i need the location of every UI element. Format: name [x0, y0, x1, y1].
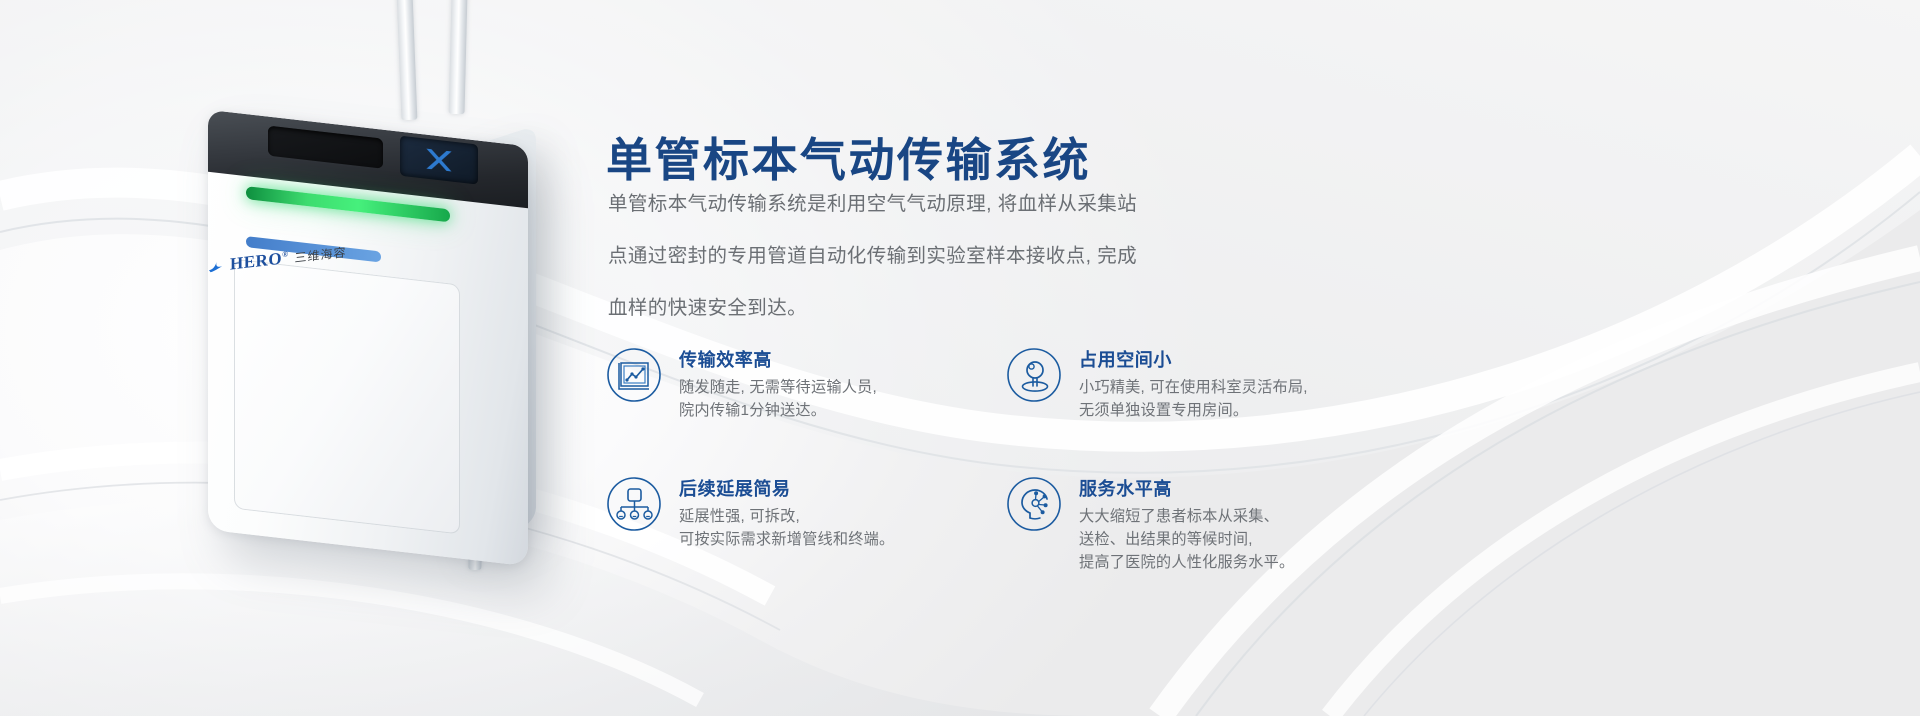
brand-chinese-text: 三维海容: [295, 243, 347, 266]
product-description: 单管标本气动传输系统是利用空气气动原理, 将血样从采集站 点通过密封的专用管道自…: [608, 178, 1268, 334]
device-sample-slot: [268, 126, 383, 169]
description-line-2: 点通过密封的专用管道自动化传输到实验室样本接收点, 完成: [608, 230, 1268, 282]
feature-heading: 传输效率高: [679, 346, 877, 372]
device-front-panel: [234, 259, 460, 535]
feature-heading: 后续延展简易: [679, 475, 894, 501]
description-line-1: 单管标本气动传输系统是利用空气气动原理, 将血样从采集站: [608, 178, 1268, 230]
product-image: HERO® 三维海容: [150, 0, 620, 716]
pneumatic-tube-left: [397, 0, 418, 120]
feature-body-line: 院内传输1分钟送达。: [679, 399, 877, 422]
feature-text: 服务水平高 大大缩短了患者标本从采集、 送检、出结果的等候时间, 提高了医院的人…: [1079, 474, 1294, 574]
description-line-3: 血样的快速安全到达。: [608, 282, 1268, 334]
line-chart-icon: [606, 347, 662, 403]
product-banner: HERO® 三维海容 单管标本气动传输系统 单管标本气动传输系统是利用空气气动原…: [0, 0, 1920, 716]
feature-text: 后续延展简易 延展性强, 可拆改, 可按实际需求新增管线和终端。: [679, 474, 894, 551]
feature-heading: 服务水平高: [1079, 475, 1294, 501]
pneumatic-tube-right: [449, 0, 468, 114]
hero-swoosh-icon: [208, 258, 224, 274]
feature-body-line: 提高了医院的人性化服务水平。: [1079, 551, 1294, 574]
feature-item-small-footprint: 占用空间小 小巧精美, 可在使用科室灵活布局, 无须单独设置专用房间。: [1006, 345, 1286, 422]
feature-body-line: 可按实际需求新增管线和终端。: [679, 528, 894, 551]
feature-body-line: 送检、出结果的等候时间,: [1079, 528, 1294, 551]
network-tree-icon: [606, 476, 662, 532]
feature-heading: 占用空间小: [1079, 346, 1308, 372]
head-circuit-icon: [1006, 476, 1062, 532]
feature-text: 传输效率高 随发随走, 无需等待运输人员, 院内传输1分钟送达。: [679, 345, 877, 422]
space-pin-icon: [1006, 347, 1062, 403]
pneumatic-station-device: [208, 110, 528, 566]
feature-body-line: 随发随走, 无需等待运输人员,: [679, 376, 877, 399]
content-column: 单管标本气动传输系统 单管标本气动传输系统是利用空气气动原理, 将血样从采集站 …: [606, 0, 1866, 716]
feature-body: 小巧精美, 可在使用科室灵活布局, 无须单独设置专用房间。: [1079, 376, 1308, 422]
feature-body-line: 无须单独设置专用房间。: [1079, 399, 1308, 422]
feature-body: 随发随走, 无需等待运输人员, 院内传输1分钟送达。: [679, 376, 877, 422]
feature-body-line: 小巧精美, 可在使用科室灵活布局,: [1079, 376, 1308, 399]
device-display-screen: [400, 136, 478, 185]
brand-trademark: ®: [282, 249, 288, 259]
feature-list: 传输效率高 随发随走, 无需等待运输人员, 院内传输1分钟送达。: [606, 345, 1286, 574]
feature-body-line: 大大缩短了患者标本从采集、: [1079, 505, 1294, 528]
feature-body-line: 延展性强, 可拆改,: [679, 505, 894, 528]
feature-item-transfer-efficiency: 传输效率高 随发随走, 无需等待运输人员, 院内传输1分钟送达。: [606, 345, 1006, 422]
feature-item-service-level: 服务水平高 大大缩短了患者标本从采集、 送检、出结果的等候时间, 提高了医院的人…: [1006, 474, 1286, 574]
feature-body: 延展性强, 可拆改, 可按实际需求新增管线和终端。: [679, 505, 894, 551]
feature-body: 大大缩短了患者标本从采集、 送检、出结果的等候时间, 提高了医院的人性化服务水平…: [1079, 505, 1294, 574]
brand-latin-text: HERO®: [230, 248, 289, 275]
feature-text: 占用空间小 小巧精美, 可在使用科室灵活布局, 无须单独设置专用房间。: [1079, 345, 1308, 422]
feature-item-easy-extension: 后续延展简易 延展性强, 可拆改, 可按实际需求新增管线和终端。: [606, 474, 1006, 574]
